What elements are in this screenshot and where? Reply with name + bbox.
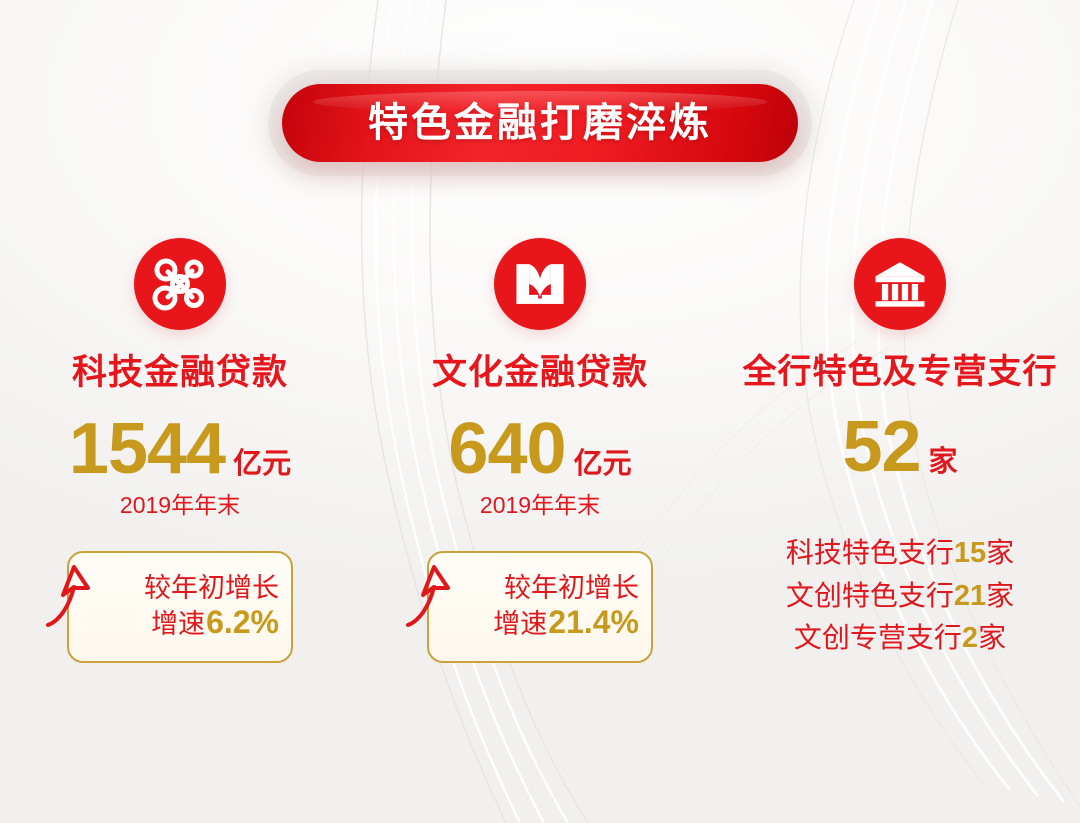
stat-value-tech-finance: 1544 (69, 413, 225, 485)
breakdown-label-post-1: 家 (986, 580, 1014, 611)
growth-line2-culture-finance: 增速 21.4% (493, 604, 639, 641)
breakdown-number-0: 15 (954, 537, 986, 569)
growth-badge-culture-finance: 较年初增长 增速 21.4% (427, 551, 653, 663)
breakdown-label-pre-2: 文创专营支行 (794, 622, 962, 653)
list-item: 文创特色支行21家 (786, 578, 1014, 615)
stat-title-culture-finance: 文化金融贷款 (432, 354, 648, 393)
title-pill: 特色金融打磨淬炼 (282, 84, 798, 162)
growth-label-tech-finance: 增速 (151, 609, 205, 640)
open-book-icon-badge (494, 238, 586, 330)
breakdown-number-1: 21 (954, 580, 986, 612)
breakdown-label-pre-0: 科技特色支行 (786, 537, 954, 568)
infographic-root: 特色金融打磨淬炼 (0, 0, 1080, 823)
stat-period-tech-finance: 2019年年末 (120, 494, 240, 517)
stat-value-culture-finance: 640 (448, 413, 565, 485)
growth-arrow-icon (43, 559, 103, 637)
stat-unit-tech-finance: 亿元 (233, 450, 291, 479)
page-title: 特色金融打磨淬炼 (368, 103, 712, 143)
network-nodes-icon (148, 252, 212, 316)
growth-line2-tech-finance: 增速 6.2% (151, 604, 279, 641)
stat-unit-branches: 家 (929, 448, 958, 477)
stat-column-culture-finance: 文化金融贷款 640 亿元 2019年年末 较年初增长 增速 21.4% (360, 238, 720, 671)
growth-line1-tech-finance: 较年初增长 (144, 573, 279, 604)
growth-badge-tech-finance: 较年初增长 增速 6.2% (67, 551, 293, 663)
growth-slot-culture-finance: 较年初增长 增速 21.4% (360, 551, 720, 671)
stat-title-branches: 全行特色及专营支行 (743, 354, 1058, 391)
growth-arrow-icon (403, 559, 463, 637)
breakdown-label-pre-1: 文创特色支行 (786, 580, 954, 611)
breakdown-label-post-2: 家 (978, 622, 1006, 653)
stat-unit-culture-finance: 亿元 (574, 450, 632, 479)
stat-column-branches: 全行特色及专营支行 52 家 科技特色支行15家 文创特色支行21家 文创专营支… (720, 238, 1080, 671)
growth-rate-culture-finance: 21.4% (548, 604, 639, 641)
stat-value-row-culture-finance: 640 亿元 (448, 413, 631, 485)
growth-line1-culture-finance: 较年初增长 (504, 573, 639, 604)
stats-columns: 科技金融贷款 1544 亿元 2019年年末 较年初增长 增速 6.2% (0, 238, 1080, 671)
breakdown-number-2: 2 (962, 622, 978, 654)
breakdown-label-post-0: 家 (986, 537, 1014, 568)
open-book-icon (511, 255, 569, 313)
growth-rate-tech-finance: 6.2% (206, 604, 279, 641)
bank-building-icon-badge (854, 238, 946, 330)
branch-breakdown-list: 科技特色支行15家 文创特色支行21家 文创专营支行2家 (786, 535, 1014, 656)
stat-value-branches: 52 (842, 411, 920, 483)
stat-column-tech-finance: 科技金融贷款 1544 亿元 2019年年末 较年初增长 增速 6.2% (0, 238, 360, 671)
title-banner: 特色金融打磨淬炼 (0, 84, 1080, 162)
growth-slot-tech-finance: 较年初增长 增速 6.2% (0, 551, 360, 671)
stat-title-tech-finance: 科技金融贷款 (72, 354, 288, 393)
stat-value-row-tech-finance: 1544 亿元 (69, 413, 291, 485)
list-item: 文创专营支行2家 (794, 620, 1006, 657)
network-nodes-icon-badge (134, 238, 226, 330)
stat-value-row-branches: 52 家 (842, 411, 957, 483)
growth-label-culture-finance: 增速 (493, 609, 547, 640)
stat-period-culture-finance: 2019年年末 (480, 494, 600, 517)
list-item: 科技特色支行15家 (786, 535, 1014, 572)
bank-building-icon (871, 255, 929, 313)
